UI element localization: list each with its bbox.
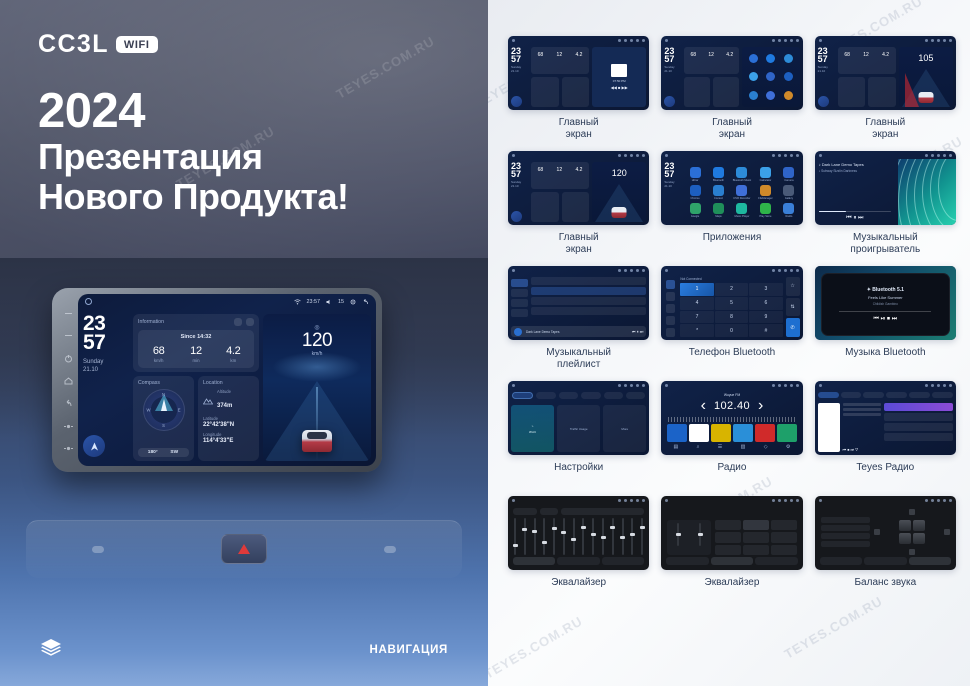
volume-icon (784, 499, 787, 502)
eq-preset-cell[interactable] (715, 520, 741, 530)
information-card[interactable]: Information Since 14:32 (133, 314, 259, 372)
player-controls[interactable]: ⏮ ⏸ ⏭ (819, 215, 891, 222)
player-controls[interactable]: ⏮ ⏹ ⏭ ♡ (843, 447, 881, 452)
dial-key[interactable]: 5 (715, 297, 748, 310)
teyes-radio-tab[interactable] (841, 392, 862, 398)
eq-preset-cell[interactable] (715, 532, 741, 542)
screen-thumbnail[interactable]: Wuyue FM ‹ 102.40 › ▤⌕ ☰▥ ◇⚙ (661, 381, 802, 455)
screen-cell[interactable]: Wuyue FM ‹ 102.40 › ▤⌕ ☰▥ ◇⚙Радио (661, 381, 802, 488)
settings-icon[interactable] (666, 328, 675, 337)
screen-cell[interactable]: Эквалайзер (508, 496, 649, 603)
eq-band-knob[interactable] (610, 526, 615, 529)
radio-presets[interactable] (664, 424, 799, 442)
home-icon (512, 499, 515, 502)
navigation-arrow-icon[interactable] (511, 211, 522, 222)
trip-stat-value: 4.2 (215, 345, 252, 357)
dial-key[interactable]: 2 (715, 283, 748, 296)
eq-band[interactable] (612, 518, 614, 555)
eq-tab[interactable] (513, 557, 555, 565)
player-controls[interactable]: ⏮ ⏸ ⏭ (632, 329, 643, 334)
settings-cards[interactable]: ⌁Wi-FiTraffic UsageMore (511, 405, 646, 452)
app-tile[interactable]: Music Player (731, 203, 752, 218)
eq-preset-cell[interactable] (743, 532, 769, 542)
app-tile[interactable]: Radio (778, 203, 799, 218)
teyes-radio-body: ⏮ ⏹ ⏭ ♡ (818, 403, 953, 452)
eq-header[interactable] (511, 507, 646, 518)
eq-tab[interactable] (711, 557, 753, 565)
app-icon[interactable] (760, 203, 771, 214)
screen-cell[interactable]: Баланс звука (815, 496, 956, 603)
screen-thumbnail[interactable]: Dark Lane Demo Tapes ⏮ ⏸ ⏭ (508, 266, 649, 340)
app-icon[interactable] (736, 185, 747, 196)
eq-preset-cell[interactable] (771, 545, 797, 555)
settings-tab[interactable] (536, 392, 555, 399)
thumb-information-card: 68124.2 (838, 47, 896, 74)
thumb-compass-card (531, 77, 559, 107)
teyes-radio-tab[interactable] (932, 392, 953, 398)
eq-fader-knob[interactable] (676, 533, 681, 536)
screen-thumbnail[interactable]: Not Connected 123456789*0# ☆ ⇅ ✆ (661, 266, 802, 340)
compass-widget[interactable]: Compass N E S W (133, 376, 194, 461)
eq-tab[interactable] (666, 557, 708, 565)
back-icon (796, 154, 799, 157)
playlist-item[interactable] (531, 287, 646, 295)
key-power-icon[interactable] (64, 354, 73, 363)
screen-thumbnail[interactable]: ♪ Dark Lane Demo Tapes ♪ Subway Sizzlin … (815, 151, 956, 225)
teyes-radio-tab[interactable] (863, 392, 884, 398)
clock-icon (778, 154, 781, 157)
clock-day: Sunday (83, 358, 129, 366)
settings-card[interactable]: Traffic Usage (557, 405, 600, 452)
eq-fader-knob[interactable] (698, 533, 703, 536)
screen-thumbnail[interactable]: 2357 Sunday21.10 HiCar Bluetooth Bluetoo… (661, 151, 802, 225)
screen-thumbnail[interactable] (508, 496, 649, 570)
contacts-icon[interactable] (666, 292, 675, 301)
rds-icon[interactable]: ◇ (764, 444, 768, 450)
favorite-icon[interactable]: ☆ (786, 277, 800, 296)
app-icon[interactable] (766, 54, 775, 63)
back-icon (642, 499, 645, 502)
key-next-icon[interactable] (64, 331, 73, 340)
app-icon[interactable] (713, 167, 724, 178)
back-icon[interactable] (362, 299, 369, 305)
eq-faders[interactable] (667, 520, 711, 555)
key-volume-up-icon[interactable] (64, 444, 73, 453)
eq-band[interactable] (534, 518, 536, 555)
eq-actions[interactable] (561, 508, 644, 515)
screen-cell[interactable]: 2357 Sunday21.10 68124.2 07:50 PM ◀◀ ■ ▶… (508, 36, 649, 143)
radio-preset[interactable] (755, 424, 775, 442)
station-list[interactable] (884, 403, 953, 452)
thumb-navigation: 105 (899, 47, 953, 107)
thumb-app-shortcuts[interactable] (742, 47, 799, 107)
app-tile[interactable]: Bluetooth Music (731, 167, 752, 182)
thumb-clock-hh: 2357 Sunday21.10 (664, 162, 680, 189)
station-row[interactable] (884, 403, 953, 411)
eq-band-knob[interactable] (591, 533, 596, 536)
eq-band[interactable] (553, 518, 555, 555)
screen-cell[interactable]: Эквалайзер (661, 496, 802, 603)
gear-icon (636, 384, 639, 387)
information-actions[interactable] (234, 318, 254, 326)
app-tile[interactable]: Google (684, 203, 705, 218)
eq-band[interactable] (563, 518, 565, 555)
balance-tab[interactable] (864, 557, 906, 565)
balance-down-arrow[interactable] (909, 549, 915, 555)
app-tile[interactable]: Context (708, 185, 729, 200)
app-icon[interactable] (713, 185, 724, 196)
station-row[interactable] (884, 423, 953, 431)
eq-band-knob[interactable] (630, 533, 635, 536)
thumb-clock-hh: 2357 Sunday21.10 (511, 47, 527, 74)
settings-tab[interactable] (626, 392, 645, 399)
navigation-arrow-icon[interactable] (83, 435, 105, 457)
eq-band-knob[interactable] (522, 528, 527, 531)
playlist-category[interactable] (511, 299, 528, 307)
eq-tab[interactable] (557, 557, 599, 565)
band-icon[interactable]: ▤ (674, 444, 679, 450)
dial-key[interactable]: 0 (715, 324, 748, 337)
head-unit-hard-keys[interactable] (60, 302, 76, 460)
layers-icon (40, 638, 62, 663)
balance-tab[interactable] (820, 557, 862, 565)
app-icon[interactable] (766, 91, 775, 100)
eq-preset-cell[interactable] (715, 545, 741, 555)
teyes-radio-tab[interactable] (818, 392, 839, 398)
teyes-radio-tabs[interactable] (818, 392, 953, 400)
radio-preset[interactable] (733, 424, 753, 442)
balance-up-arrow[interactable] (909, 509, 915, 515)
eq-band[interactable] (582, 518, 584, 555)
radio-preset[interactable] (777, 424, 797, 442)
dial-key[interactable]: 4 (680, 297, 713, 310)
app-tile[interactable]: Bluetooth (708, 167, 729, 182)
information-refresh-icon[interactable] (234, 318, 242, 326)
screen-content: 23 57 Sunday 21.10 Information (78, 310, 376, 466)
prev-station-icon[interactable]: ‹ (701, 397, 706, 415)
eq-band-knob[interactable] (542, 541, 547, 544)
dashboard-knob-right (384, 546, 396, 553)
dialpad-icon[interactable] (666, 280, 675, 289)
thumb-status-bar (508, 496, 649, 504)
radio-dial-scale[interactable] (668, 417, 795, 422)
gear-icon (943, 499, 946, 502)
eq-band-knob[interactable] (640, 526, 645, 529)
screen-cell[interactable]: 2357 Sunday21.10 HiCar Bluetooth Bluetoo… (661, 151, 802, 258)
eq-band-knob[interactable] (552, 527, 557, 530)
settings-tab[interactable] (604, 392, 623, 399)
eq-tab[interactable] (602, 557, 644, 565)
eq-band[interactable] (631, 518, 633, 555)
app-tile[interactable]: Calculator (755, 167, 776, 182)
radio-preset[interactable] (711, 424, 731, 442)
dial-key[interactable]: 1 (680, 283, 713, 296)
wifi-icon (925, 39, 928, 42)
eq-band[interactable] (543, 518, 545, 555)
gear-icon (790, 499, 793, 502)
screen-cell[interactable]: ♪ Dark Lane Demo Tapes ♪ Subway Sizzlin … (815, 151, 956, 258)
eq-band[interactable] (524, 518, 526, 555)
screen-cell[interactable]: ⏮ ⏹ ⏭ ♡ Teyes Радио (815, 381, 956, 488)
app-icon[interactable] (766, 72, 775, 81)
app-icon[interactable] (690, 185, 701, 196)
eq-preset-cell[interactable] (771, 532, 797, 542)
app-tile[interactable]: HiCar (684, 167, 705, 182)
navigation-widget[interactable]: ◎ 120 km/h (263, 314, 371, 461)
mini-player[interactable]: Dark Lane Demo Tapes ⏮ ⏸ ⏭ (511, 326, 646, 337)
screen-cell[interactable]: 2357 Sunday21.10 68124.2 105 Главныйэкра… (815, 36, 956, 143)
dial-key[interactable]: # (749, 324, 782, 337)
media-controls[interactable]: ◀◀ ■ ▶▶ (611, 85, 628, 90)
screen-thumbnail[interactable]: 2357 Sunday21.10 68124.2 120 (508, 151, 649, 225)
volume-icon (784, 384, 787, 387)
thumb-body: 2357 Sunday21.10 68124.2 120 (508, 159, 649, 225)
information-expand-icon[interactable] (246, 318, 254, 326)
track-artist: Childish Gambino (873, 302, 898, 306)
player-controls[interactable]: ⏮ ⏯ ⏹ ⏭ (874, 316, 898, 323)
eq-band-knob[interactable] (581, 526, 586, 529)
thumb-navigation: 120 (592, 162, 646, 222)
navigation-arrow-icon[interactable] (664, 96, 675, 107)
eq-band[interactable] (573, 518, 575, 555)
playlist-sidebar[interactable] (511, 277, 528, 323)
app-icon[interactable] (784, 54, 793, 63)
dial-key[interactable]: 6 (749, 297, 782, 310)
thumb-trip-stats: 68124.2 (531, 47, 589, 58)
eq-band-knob[interactable] (601, 536, 606, 539)
search-icon[interactable] (666, 304, 675, 313)
balance-footer-tabs[interactable] (818, 557, 953, 567)
dialer-actions[interactable]: ☆ ⇅ ✆ (786, 277, 800, 337)
phone-sidebar[interactable] (664, 277, 677, 337)
longitude-row: Longitude 114°4'33"E (203, 432, 254, 444)
eq-band[interactable] (592, 518, 594, 555)
teyes-radio-tab[interactable] (909, 392, 930, 398)
home-icon[interactable] (85, 298, 92, 305)
progress-bar[interactable] (839, 311, 931, 312)
screen-caption: Музыкальныйплейлист (546, 347, 611, 373)
playlist-item[interactable] (531, 297, 646, 305)
app-icon[interactable] (749, 91, 758, 100)
settings-card[interactable]: ⌁Wi-Fi (511, 405, 554, 452)
screen-thumbnail[interactable] (661, 496, 802, 570)
app-icon[interactable] (784, 91, 793, 100)
screen-thumbnail[interactable]: ⏮ ⏹ ⏭ ♡ (815, 381, 956, 455)
volume-icon (784, 154, 787, 157)
thumb-widgets: 68124.2 (684, 47, 739, 107)
dial-key[interactable]: 3 (749, 283, 782, 296)
settings-tabs[interactable] (511, 392, 646, 402)
balance-pad[interactable] (874, 509, 950, 555)
settings-tab[interactable] (559, 392, 578, 399)
app-tile[interactable]: Camera (778, 167, 799, 182)
call-history-icon[interactable] (666, 316, 675, 325)
balance-tab[interactable] (909, 557, 951, 565)
wifi-icon (618, 499, 621, 502)
key-back-icon[interactable] (64, 399, 73, 408)
dial-key[interactable]: 9 (749, 311, 782, 324)
search-icon[interactable]: ⌕ (697, 444, 700, 450)
thumb-information-card: 68124.2 (684, 47, 739, 74)
eq-band[interactable] (514, 518, 516, 555)
home-icon (819, 499, 822, 502)
playlist-category[interactable] (511, 279, 528, 287)
station-row[interactable] (884, 413, 953, 421)
settings-tab[interactable] (512, 392, 533, 399)
logo-wifi-badge: WIFI (116, 36, 158, 53)
next-station-icon[interactable]: › (758, 397, 763, 415)
eq-bands[interactable] (511, 518, 646, 557)
screen-caption: Главныйэкран (559, 117, 599, 143)
key-volume-down-icon[interactable] (64, 422, 73, 431)
status-icons (772, 384, 799, 387)
speed-unit: km/h (263, 351, 371, 357)
eq-preset-cell[interactable] (743, 520, 769, 530)
eq-preset-cell[interactable] (771, 520, 797, 530)
navigation-arrow-icon[interactable] (511, 96, 522, 107)
eq-preset-grid[interactable] (715, 520, 796, 555)
screen-cell[interactable]: 2357 Sunday21.10 68124.2 120 Главныйэкра… (508, 151, 649, 258)
wifi-icon (772, 269, 775, 272)
status-volume-level: 15 (338, 299, 344, 305)
screen-cell[interactable]: Not Connected 123456789*0# ☆ ⇅ ✆Телефон … (661, 266, 802, 373)
sync-icon[interactable]: ⇅ (786, 298, 800, 317)
radio-preset[interactable] (689, 424, 709, 442)
balance-left-arrow[interactable] (874, 529, 880, 535)
key-home-icon[interactable] (64, 376, 73, 385)
dial-keypad[interactable]: 123456789*0# (680, 283, 782, 337)
app-icon[interactable] (760, 167, 771, 178)
hazard-button[interactable] (221, 534, 267, 564)
playlist-category[interactable] (511, 289, 528, 297)
thumb-body: Dark Lane Demo Tapes ⏮ ⏸ ⏭ (508, 274, 649, 340)
screen-thumbnail[interactable]: 2357 Sunday21.10 68124.2 07:50 PM ◀◀ ■ ▶… (508, 36, 649, 110)
balance-readout-line (821, 525, 870, 531)
screen-thumbnail[interactable]: 2357 Sunday21.10 68124.2 (661, 36, 802, 110)
teyes-radio-tab[interactable] (886, 392, 907, 398)
progress-bar[interactable] (819, 211, 891, 213)
app-icon[interactable] (783, 167, 794, 178)
dial-key[interactable]: * (680, 324, 713, 337)
radio-toolbar[interactable]: ▤⌕ ☰▥ ◇⚙ (664, 442, 799, 452)
gear-icon (790, 39, 793, 42)
navigation-label: НАВИГАЦИЯ (369, 644, 448, 656)
app-tile[interactable]: DVR Recorder (731, 185, 752, 200)
eq-fader[interactable] (677, 523, 679, 546)
screen-cell[interactable]: ⌁Wi-FiTraffic UsageMoreНастройки (508, 381, 649, 488)
eq-footer-tabs[interactable] (664, 557, 799, 567)
volume-icon (937, 384, 940, 387)
status-icons (618, 154, 645, 157)
app-icon[interactable] (760, 185, 771, 196)
thumb-clock: 2357 Sunday21.10 (664, 47, 681, 107)
dial-key[interactable]: 8 (715, 311, 748, 324)
app-icon[interactable] (690, 203, 701, 214)
screen-thumbnail[interactable]: ⌁Wi-FiTraffic UsageMore (508, 381, 649, 455)
screen-thumbnail[interactable] (815, 496, 956, 570)
eq-band[interactable] (622, 518, 624, 555)
trip-stat-value: 68 (140, 345, 177, 357)
head-unit-screen[interactable]: 23:57 15 23 57 Sunday 21.10 (78, 294, 376, 466)
eq-preset-name (513, 508, 537, 515)
app-icon[interactable] (749, 54, 758, 63)
app-tile[interactable]: Maps (708, 203, 729, 218)
eq-band[interactable] (641, 518, 643, 555)
balance-right-arrow[interactable] (944, 529, 950, 535)
thumb-widgets: 68124.2 (838, 47, 896, 107)
eq-band-knob[interactable] (532, 530, 537, 533)
app-tile[interactable]: Chrome (684, 185, 705, 200)
settings-icon[interactable]: ⚙ (786, 444, 790, 450)
app-icon[interactable] (784, 72, 793, 81)
app-icon[interactable] (749, 72, 758, 81)
playlist-category[interactable] (511, 309, 528, 317)
screen-cell[interactable]: 2357 Sunday21.10 68124.2 Главныйэкран (661, 36, 802, 143)
thumb-apps-grid[interactable]: HiCar Bluetooth Bluetooth Music Calculat… (684, 162, 799, 222)
home-icon (512, 154, 515, 157)
speed-readout: ◎ 120 km/h (263, 324, 371, 357)
screen-thumbnail[interactable]: ✦ Bluetooth 5.1 Feels Like Summer Childi… (815, 266, 956, 340)
volume-icon[interactable] (326, 299, 332, 305)
station-row[interactable] (884, 433, 953, 441)
list-icon[interactable]: ☰ (718, 444, 722, 450)
eq-preset-button[interactable] (540, 508, 558, 515)
screen-cell[interactable]: ✦ Bluetooth 5.1 Feels Like Summer Childi… (815, 266, 956, 373)
app-tile[interactable]: FileManager (755, 185, 776, 200)
app-label: Calculator (760, 179, 772, 182)
settings-card[interactable]: More (603, 405, 646, 452)
connection-status: Not Connected (680, 277, 782, 281)
key-prev-icon[interactable] (64, 309, 73, 318)
eq-band-knob[interactable] (620, 536, 625, 539)
thumb-location-card (562, 192, 590, 222)
clock-widget[interactable]: 23 57 Sunday 21.10 (83, 314, 129, 461)
playlist-item[interactable] (531, 307, 646, 315)
home-icon (819, 39, 822, 42)
eq-band[interactable] (602, 518, 604, 555)
app-icon[interactable] (736, 167, 747, 178)
app-icon[interactable] (713, 203, 724, 214)
radio-preset[interactable] (667, 424, 687, 442)
app-tile[interactable]: Gallery (778, 185, 799, 200)
eq-footer-tabs[interactable] (511, 557, 646, 567)
thumb-compass-card (838, 77, 866, 107)
eq-band-knob[interactable] (561, 531, 566, 534)
gear-icon[interactable] (350, 299, 356, 305)
eq-fader[interactable] (699, 523, 701, 546)
screen-thumbnail[interactable]: 2357 Sunday21.10 68124.2 105 (815, 36, 956, 110)
call-button[interactable]: ✆ (786, 318, 800, 337)
playlist-item[interactable] (531, 277, 646, 285)
eq-band-knob[interactable] (513, 544, 518, 547)
app-tile[interactable]: Play Store (755, 203, 776, 218)
settings-tab[interactable] (581, 392, 600, 399)
location-title: Location (203, 380, 254, 386)
app-icon[interactable] (783, 203, 794, 214)
location-widget[interactable]: Location Altitude 374m (198, 376, 259, 461)
eq-preset-cell[interactable] (743, 545, 769, 555)
app-icon[interactable] (736, 203, 747, 214)
dial-key[interactable]: 7 (680, 311, 713, 324)
eq-band-knob[interactable] (571, 538, 576, 541)
app-icon[interactable] (690, 167, 701, 178)
navigation-arrow-icon[interactable] (818, 96, 829, 107)
playlist-tracks[interactable] (531, 277, 646, 323)
app-icon[interactable] (783, 185, 794, 196)
eq-icon[interactable]: ▥ (741, 444, 746, 450)
eq-tab[interactable] (755, 557, 797, 565)
screen-cell[interactable]: Dark Lane Demo Tapes ⏮ ⏸ ⏭Музыкальныйпле… (508, 266, 649, 373)
